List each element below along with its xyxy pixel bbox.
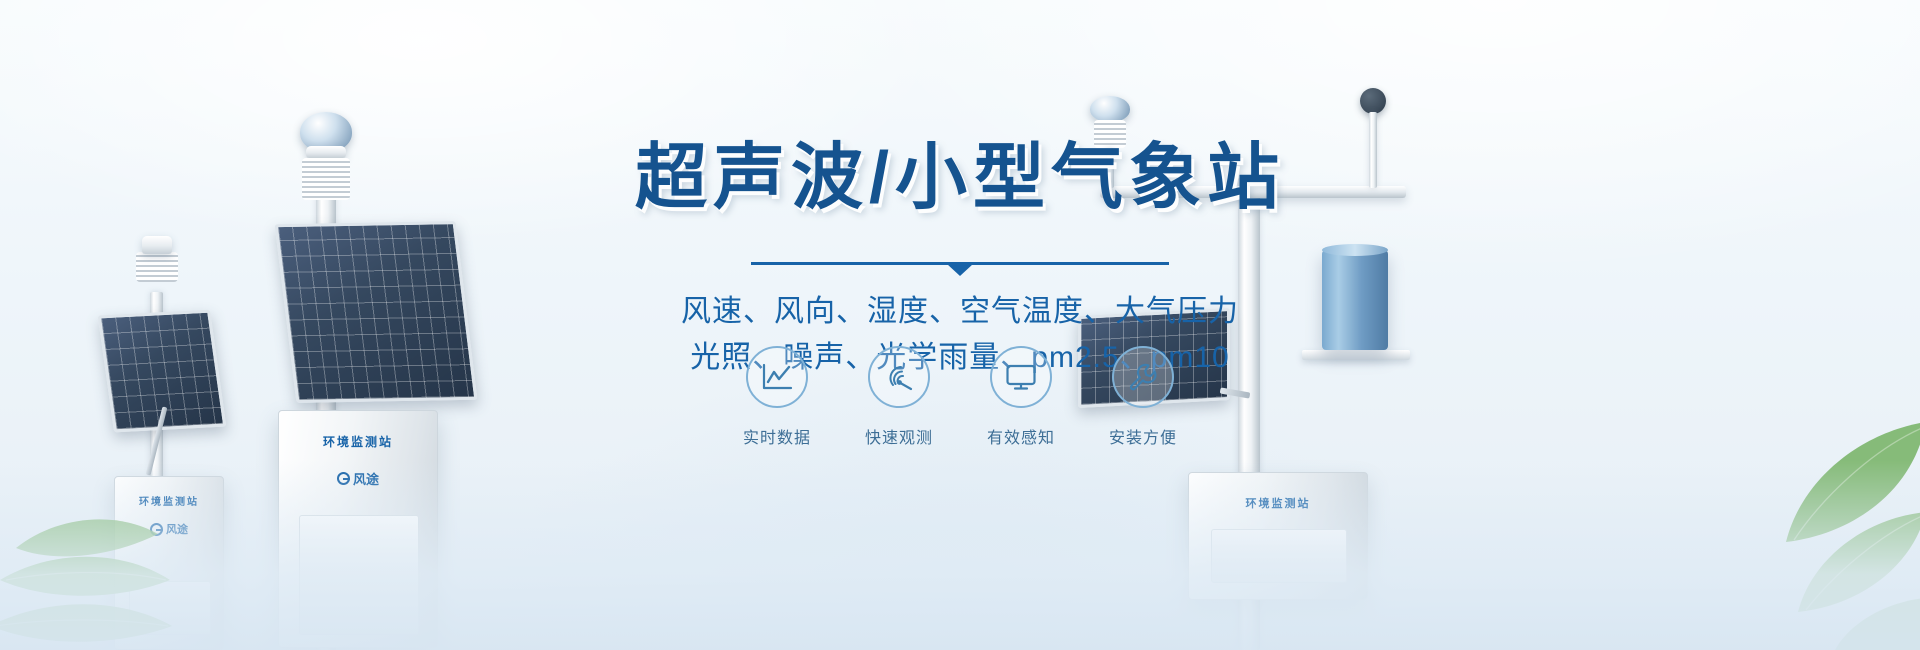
wrench-icon <box>1112 346 1174 408</box>
feature-label: 有效感知 <box>987 424 1055 448</box>
feature-item-realtime-data[interactable]: 实时数据 <box>746 346 808 448</box>
cabinet-label: 环境监测站 <box>323 433 393 450</box>
foreground-haze <box>0 460 1920 650</box>
sensor-stem <box>1106 148 1114 188</box>
feature-item-fast-observation[interactable]: 快速观测 <box>868 346 930 448</box>
product-banner: 环境监测站 风途 环境监测站 风途 <box>0 0 1920 650</box>
feature-label: 实时数据 <box>743 424 811 448</box>
rain-gauge <box>1322 250 1388 350</box>
wind-vane-sensor <box>1360 88 1386 114</box>
feature-item-easy-installation[interactable]: 安装方便 <box>1112 346 1174 448</box>
vane-stem <box>1369 112 1377 188</box>
sensor-head <box>142 236 172 254</box>
ultrasonic-anemometer <box>1090 96 1130 122</box>
feature-label: 快速观测 <box>865 424 933 448</box>
monitor-icon <box>990 346 1052 408</box>
sensor-cap <box>306 146 346 158</box>
cross-arm <box>1100 186 1406 198</box>
solar-panel <box>275 221 478 403</box>
radiation-shield <box>1094 120 1126 148</box>
feature-item-effective-sensing[interactable]: 有效感知 <box>990 346 1052 448</box>
radiation-shield <box>136 252 178 282</box>
radar-signal-icon <box>868 346 930 408</box>
line-chart-icon <box>746 346 808 408</box>
radiation-shield <box>302 158 350 200</box>
feature-label: 安装方便 <box>1109 424 1177 448</box>
instrument-shelf <box>1302 350 1410 360</box>
